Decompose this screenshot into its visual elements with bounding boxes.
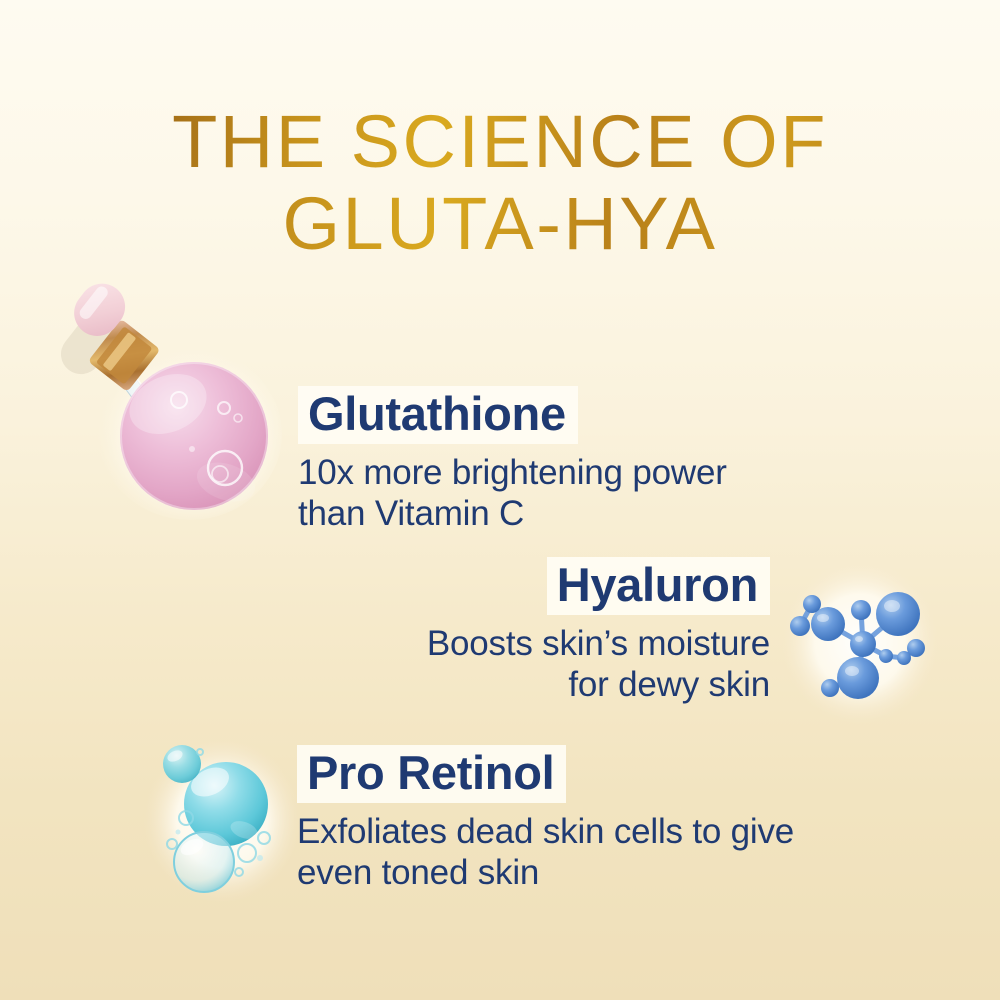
description-line: for dewy skin: [340, 665, 770, 706]
ingredient-block-pro-retinol: Pro Retinol Exfoliates dead skin cells t…: [297, 745, 857, 894]
title-line-1: THE SCIENCE OF: [0, 104, 1000, 180]
ingredient-block-glutathione: Glutathione 10x more brightening power t…: [298, 386, 818, 535]
infographic-canvas: THE SCIENCE OF GLUTA-HYA: [0, 0, 1000, 1000]
ingredient-description-glutathione: 10x more brightening power than Vitamin …: [298, 453, 818, 535]
ingredient-description-hyaluron: Boosts skin’s moisture for dewy skin: [340, 624, 770, 706]
teal-bubbles-icon: [134, 732, 314, 908]
ingredient-name-pro-retinol: Pro Retinol: [297, 745, 566, 803]
page-title: THE SCIENCE OF GLUTA-HYA: [0, 104, 1000, 262]
description-line: Exfoliates dead skin cells to give: [297, 812, 857, 853]
ingredient-name-hyaluron: Hyaluron: [547, 557, 770, 615]
pink-serum-droplet-icon: [28, 282, 296, 534]
ingredient-name-glutathione: Glutathione: [298, 386, 578, 444]
ingredient-block-hyaluron: Hyaluron Boosts skin’s moisture for dewy…: [340, 557, 770, 706]
title-line-2: GLUTA-HYA: [0, 186, 1000, 262]
description-line: Boosts skin’s moisture: [340, 624, 770, 665]
description-line: even toned skin: [297, 853, 857, 894]
description-line: 10x more brightening power: [298, 453, 818, 494]
ingredient-description-pro-retinol: Exfoliates dead skin cells to give even …: [297, 812, 857, 894]
description-line: than Vitamin C: [298, 494, 818, 535]
blue-molecule-icon: [768, 552, 948, 732]
